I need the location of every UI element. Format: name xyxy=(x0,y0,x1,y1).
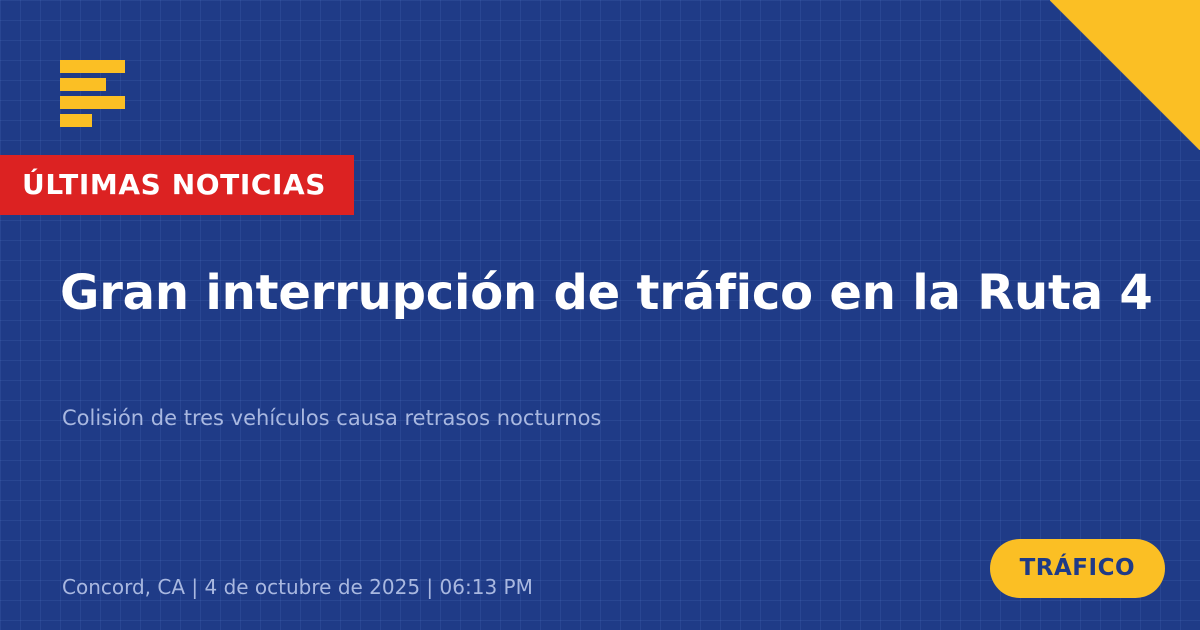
logo-bar-4 xyxy=(60,114,92,127)
article-meta: Concord, CA | 4 de octubre de 2025 | 06:… xyxy=(62,575,533,599)
news-card: ÚLTIMAS NOTICIAS Gran interrupción de tr… xyxy=(0,0,1200,630)
logo-bar-1 xyxy=(60,60,125,73)
article-subtitle: Colisión de tres vehículos causa retraso… xyxy=(62,404,1062,432)
logo-bar-3 xyxy=(60,96,125,109)
status-badge: TRÁFICO xyxy=(990,539,1165,598)
breaking-news-banner: ÚLTIMAS NOTICIAS xyxy=(0,155,354,215)
page-title: Gran interrupción de tráfico en la Ruta … xyxy=(60,264,1170,323)
breaking-news-label: ÚLTIMAS NOTICIAS xyxy=(22,171,326,199)
category-badge-label: TRÁFICO xyxy=(1020,557,1135,580)
brand-logo xyxy=(60,60,125,127)
logo-bar-2 xyxy=(60,78,106,91)
corner-wedge-decoration xyxy=(1050,0,1200,150)
